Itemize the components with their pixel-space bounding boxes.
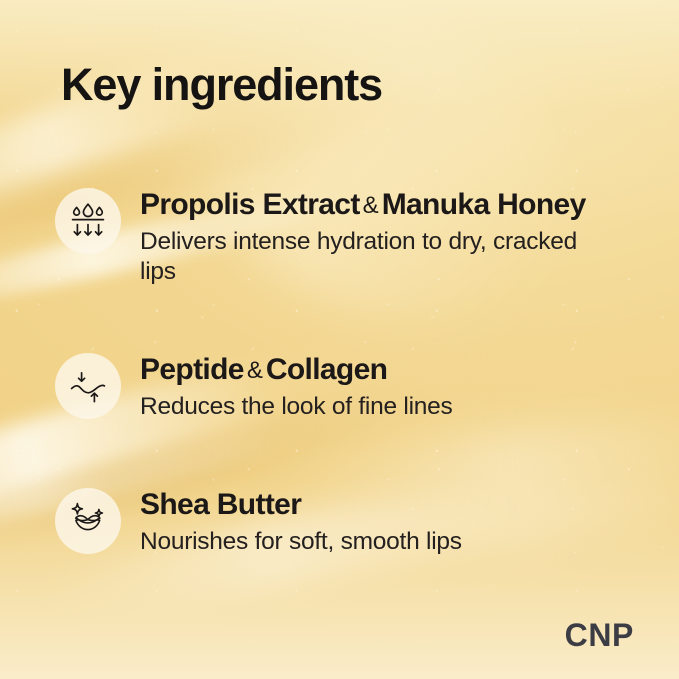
ingredient-name-primary: Propolis Extract <box>140 188 360 221</box>
ingredient-item-shea-butter: Shea Butter Nourishes for soft, smooth l… <box>55 487 462 557</box>
page-title: Key ingredients <box>61 62 382 107</box>
ingredient-icon-badge <box>55 188 121 254</box>
ingredient-icon-badge <box>55 488 121 554</box>
ingredient-icon-badge <box>55 353 121 419</box>
ingredient-item-peptide: Peptide&Collagen Reduces the look of fin… <box>55 352 453 422</box>
ingredient-description: Delivers intense hydration to dry, crack… <box>140 227 610 289</box>
ingredient-description: Nourishes for soft, smooth lips <box>140 527 462 558</box>
ingredient-name-secondary: Manuka Honey <box>382 188 586 221</box>
ingredient-name: Shea Butter <box>140 488 462 522</box>
ingredient-name-conjunction <box>301 492 307 519</box>
ingredient-text-block: Propolis Extract&Manuka Honey Delivers i… <box>140 187 610 288</box>
hydration-droplets-absorb-icon <box>67 200 109 242</box>
ingredient-text-block: Shea Butter Nourishes for soft, smooth l… <box>140 487 462 557</box>
ingredient-item-propolis: Propolis Extract&Manuka Honey Delivers i… <box>55 187 610 288</box>
ingredient-name: Peptide&Collagen <box>140 353 453 387</box>
ingredient-name: Propolis Extract&Manuka Honey <box>140 188 610 222</box>
ingredient-text-block: Peptide&Collagen Reduces the look of fin… <box>140 352 453 422</box>
ingredient-name-conjunction: & <box>360 192 382 219</box>
key-ingredients-infographic: Key ingredients <box>0 0 679 679</box>
brand-logo-cnp: CNP <box>565 619 634 651</box>
ingredient-description: Reduces the look of fine lines <box>140 392 453 423</box>
content-layer: Key ingredients <box>0 0 679 679</box>
ingredient-name-conjunction: & <box>244 357 266 384</box>
ingredient-name-primary: Peptide <box>140 353 244 386</box>
smoothing-wave-lines-icon <box>67 365 109 407</box>
sparkling-lips-icon <box>67 500 109 542</box>
ingredient-name-primary: Shea Butter <box>140 488 301 521</box>
ingredient-name-secondary: Collagen <box>266 353 387 386</box>
